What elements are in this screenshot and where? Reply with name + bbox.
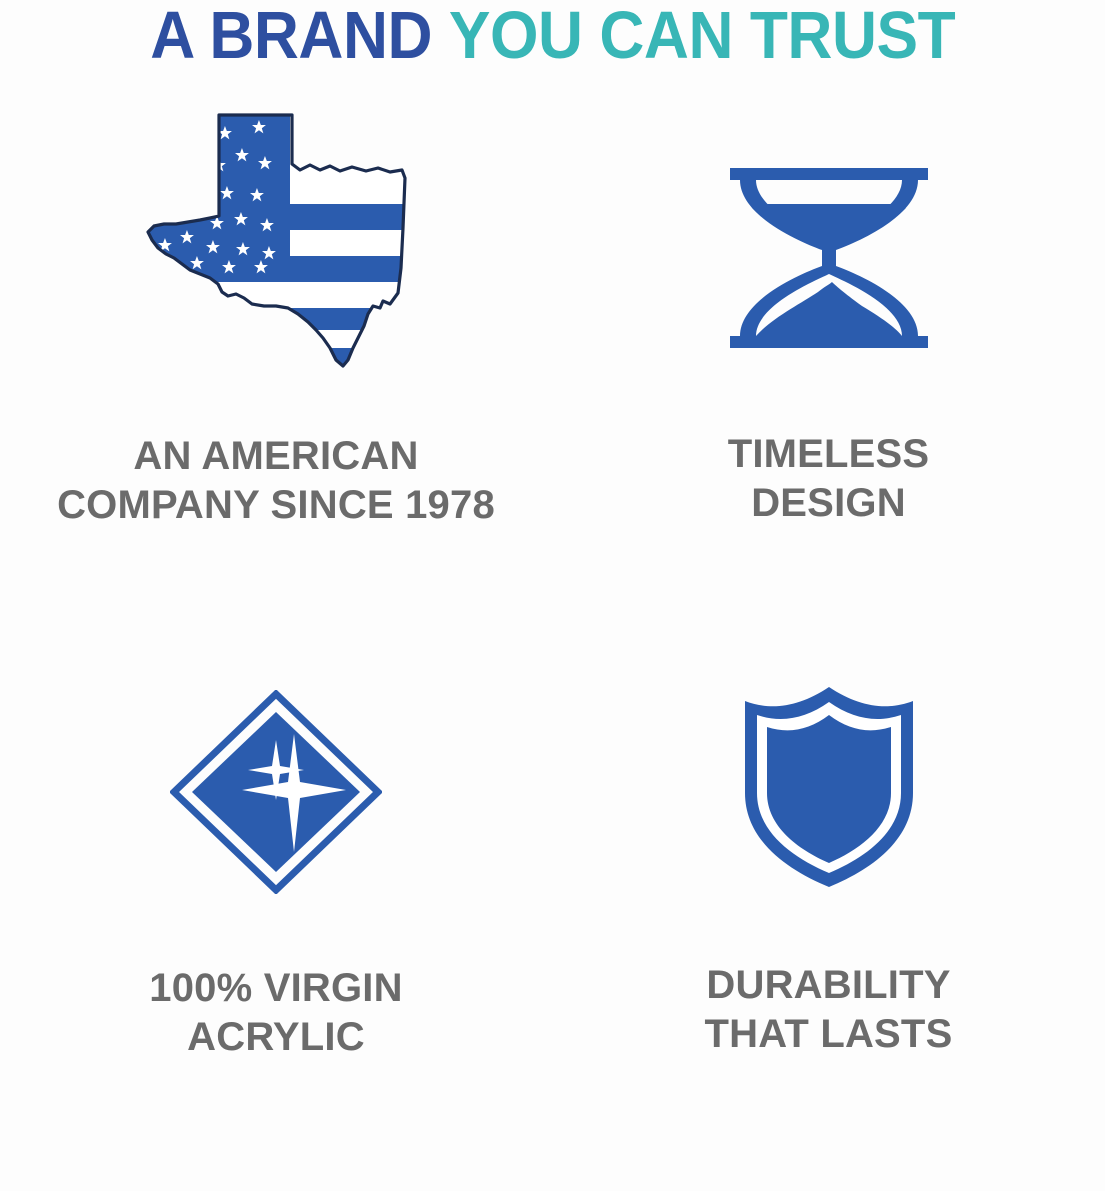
feature-durability: DURABILITY THAT LASTS [552, 660, 1105, 1191]
feature-caption: 100% VIRGIN ACRYLIC [149, 964, 402, 1062]
feature-caption: AN AMERICAN COMPANY SINCE 1978 [57, 432, 495, 530]
headline-accent-spacer [432, 0, 449, 73]
feature-timeless-design: TIMELESS DESIGN [552, 90, 1105, 660]
page-headline: A BRAND YOU CAN TRUST [0, 0, 1105, 74]
headline-primary: A BRAND [150, 0, 432, 73]
headline-accent: YOU CAN TRUST [449, 0, 955, 73]
headline-text: A BRAND YOU CAN TRUST [150, 2, 955, 69]
shield-icon [737, 685, 921, 889]
hourglass-icon [726, 168, 932, 348]
feature-caption: DURABILITY THAT LASTS [705, 961, 953, 1059]
feature-caption: TIMELESS DESIGN [728, 430, 930, 528]
texas-flag-icon [140, 108, 412, 370]
feature-an-american-company: AN AMERICAN COMPANY SINCE 1978 [0, 90, 552, 660]
diamond-sparkle-icon [170, 690, 382, 894]
feature-grid: AN AMERICAN COMPANY SINCE 1978 TIMELESS … [0, 90, 1105, 1191]
feature-virgin-acrylic: 100% VIRGIN ACRYLIC [0, 660, 552, 1191]
